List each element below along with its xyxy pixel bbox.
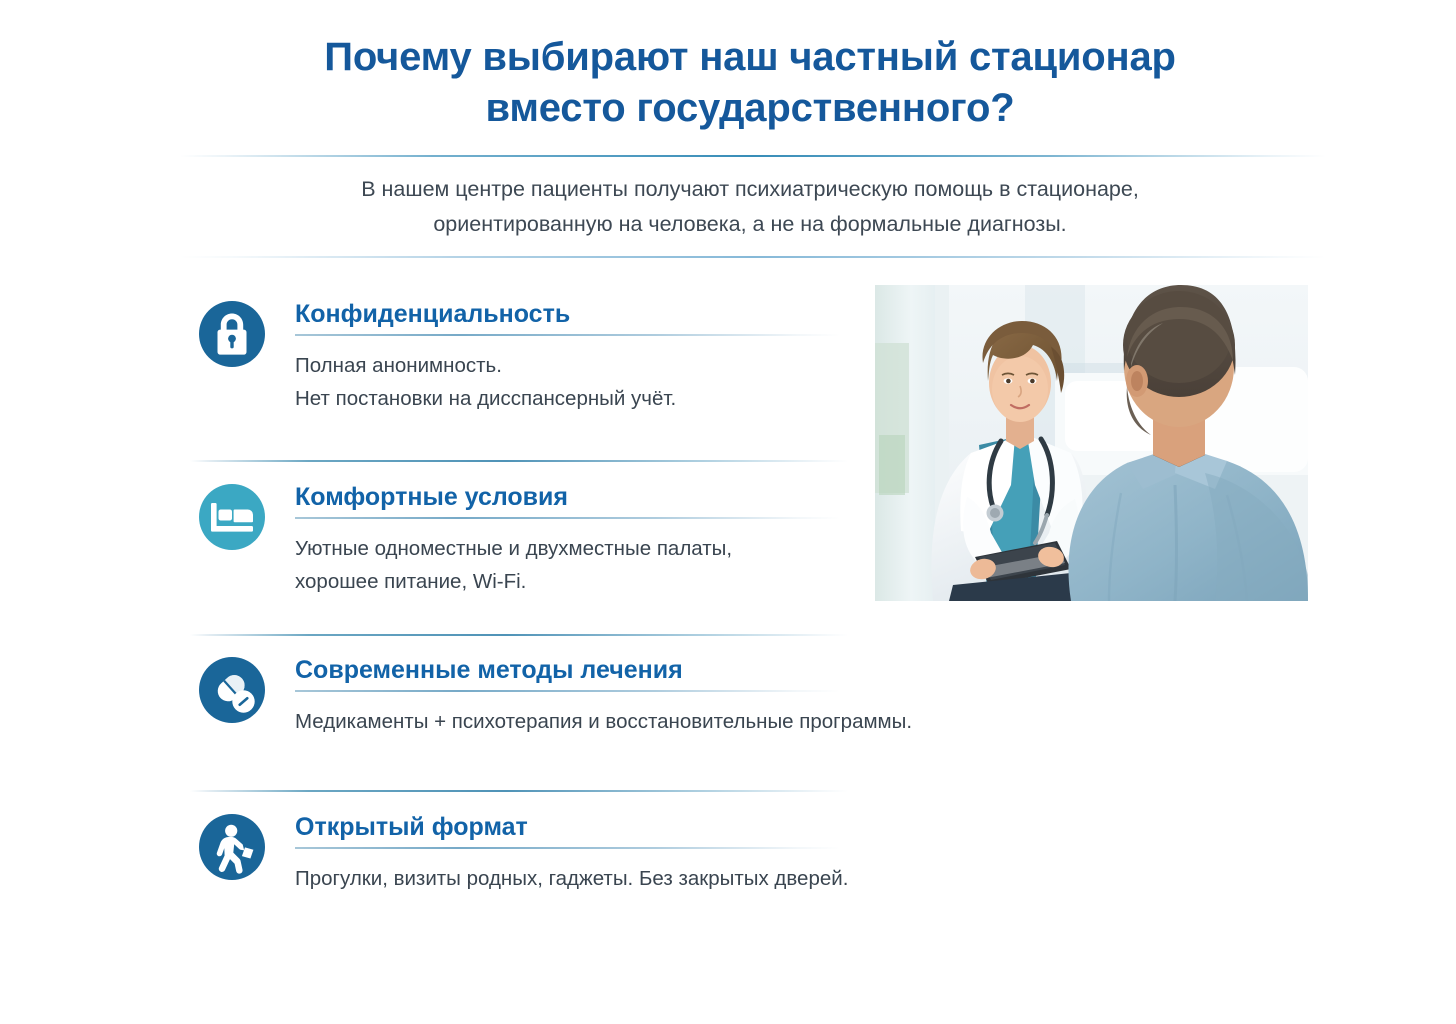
feature-body: Уютные одноместные и двухместные палаты,… [295, 532, 850, 598]
feature-body-line-2: Нет постановки на дисспансерный учёт. [295, 382, 850, 415]
feature-heading: Современные методы лечения [295, 656, 850, 684]
divider-top [180, 155, 1326, 157]
feature-heading-underline [295, 517, 840, 519]
feature-item-comfort: Комфортные условия Уютные одноместные и … [190, 483, 850, 598]
page-subtitle-line-1: В нашем центре пациенты получают психиат… [180, 172, 1320, 207]
feature-item-modern-treatment: Современные методы лечения Медикаменты +… [190, 656, 850, 738]
page-title: Почему выбирают наш частный стационар вм… [180, 32, 1320, 134]
feature-body-line-1: Уютные одноместные и двухместные палаты, [295, 532, 850, 565]
feature-body-line-1: Медикаменты + психотерапия и восстановит… [295, 705, 850, 738]
page-title-line-1: Почему выбирают наш частный стационар [180, 32, 1320, 83]
lock-icon [198, 300, 266, 368]
divider-feature-3 [190, 790, 848, 792]
page-subtitle-line-2: ориентированную на человека, а не на фор… [180, 207, 1320, 242]
feature-item-confidentiality: Конфиденциальность Полная анонимность. Н… [190, 300, 850, 415]
bed-icon [198, 483, 266, 551]
feature-heading: Комфортные условия [295, 483, 850, 511]
page-title-line-2: вместо государственного? [180, 83, 1320, 134]
divider-subtitle [180, 256, 1326, 258]
page-subtitle: В нашем центре пациенты получают психиат… [180, 172, 1320, 242]
feature-body: Прогулки, визиты родных, гаджеты. Без за… [295, 862, 850, 895]
feature-body-line-2: хорошее питание, Wi-Fi. [295, 565, 850, 598]
feature-heading-underline [295, 690, 840, 692]
divider-feature-1 [190, 460, 848, 462]
feature-body-line-1: Полная анонимность. [295, 349, 850, 382]
feature-heading-underline [295, 847, 840, 849]
feature-item-open-format: Открытый формат Прогулки, визиты родных,… [190, 813, 850, 895]
pills-icon [198, 656, 266, 724]
feature-body-line-1: Прогулки, визиты родных, гаджеты. Без за… [295, 862, 850, 895]
feature-heading: Открытый формат [295, 813, 850, 841]
walking-person-icon [198, 813, 266, 881]
feature-heading-underline [295, 334, 840, 336]
feature-body: Полная анонимность. Нет постановки на ди… [295, 349, 850, 415]
feature-heading: Конфиденциальность [295, 300, 850, 328]
feature-body: Медикаменты + психотерапия и восстановит… [295, 705, 850, 738]
divider-feature-2 [190, 634, 848, 636]
doctor-patient-consultation-photo [875, 285, 1308, 601]
slide-root: Почему выбирают наш частный стационар вм… [0, 0, 1456, 1024]
